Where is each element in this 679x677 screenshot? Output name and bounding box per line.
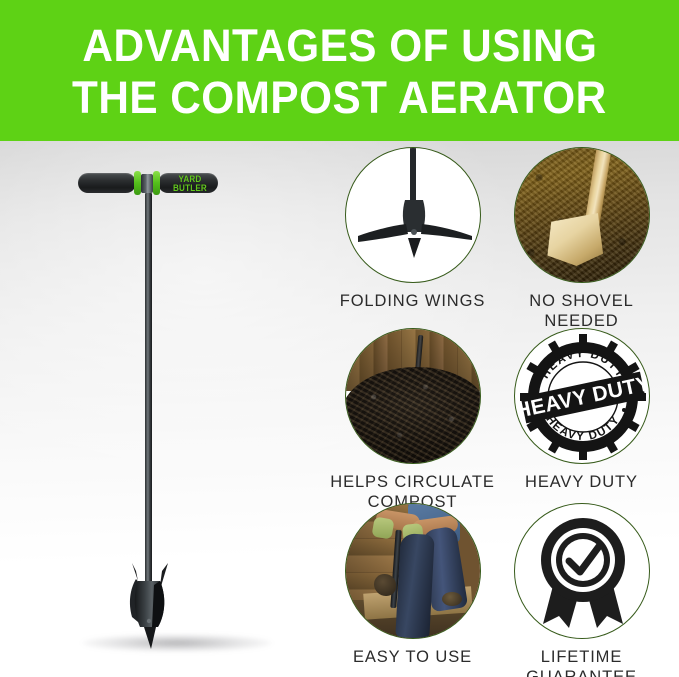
feature-image-easy-to-use [345, 503, 481, 639]
soil-clump-left [374, 574, 396, 596]
handle-grip-left [78, 173, 136, 193]
folding-wings-icon [346, 148, 481, 283]
feature-label-no-shovel-needed: NO SHOVEL NEEDED [494, 292, 669, 331]
product-photo: YARDBUTLER [0, 141, 320, 677]
wing-left [358, 224, 408, 242]
brand-logo-text: YARDBUTLER [168, 175, 211, 192]
headline-line-1: ADVANTAGES OF USING [82, 20, 597, 72]
auger-tip [144, 627, 156, 649]
wings-pivot [411, 229, 417, 235]
handle-accent-ring-left [134, 171, 141, 195]
handle-accent-ring-right [153, 171, 160, 195]
stamp-dot-right [622, 408, 626, 412]
feature-no-shovel-needed[interactable]: NO SHOVEL NEEDED [494, 147, 669, 331]
checkmark-ribbon-award-icon [525, 512, 641, 632]
handle-center-bracket [141, 174, 153, 193]
heavy-duty-stamp-icon: HEAVY DUTY HEAVY DUTY HEAVY DUTY [518, 332, 648, 462]
feature-label-heavy-duty: HEAVY DUTY [494, 473, 669, 493]
feature-image-folding-wings [345, 147, 481, 283]
compost-pile [345, 367, 481, 464]
feature-label-easy-to-use: EASY TO USE [325, 648, 500, 668]
feature-folding-wings[interactable]: FOLDING WINGS [325, 147, 500, 312]
feature-easy-to-use[interactable]: EASY TO USE [325, 503, 500, 668]
product-infographic: ADVANTAGES OF USING THE COMPOST AERATOR … [0, 0, 679, 677]
wings-tip [408, 238, 421, 258]
headline-line-2: THE COMPOST AERATOR [72, 72, 607, 124]
brand-line-2: BUTLER [173, 183, 207, 193]
feature-image-lifetime-guarantee [514, 503, 650, 639]
auger-head [108, 561, 190, 656]
tool-shaft [145, 193, 152, 593]
wings-shaft [410, 148, 416, 206]
compost-scene [346, 329, 480, 463]
person-using-aerator-scene [346, 504, 480, 638]
feature-heavy-duty[interactable]: HEAVY DUTY HEAVY DUTY HEAVY DUTY HEAVY D… [494, 328, 669, 493]
feature-helps-circulate-compost[interactable]: HELPS CIRCULATE COMPOST [325, 328, 500, 512]
auger-rivet [147, 619, 151, 623]
feature-image-helps-circulate-compost [345, 328, 481, 464]
feature-label-lifetime-guarantee: LIFETIME GUARANTEE [494, 648, 669, 677]
person-leg-front [395, 533, 434, 639]
header-banner: ADVANTAGES OF USING THE COMPOST AERATOR [0, 0, 679, 141]
gardening-glove-left [371, 516, 394, 539]
feature-image-no-shovel-needed [514, 147, 650, 283]
wing-right [421, 224, 472, 240]
feature-grid: FOLDING WINGS NO SHOVEL NEEDED HELPS CI [322, 147, 679, 677]
feature-label-folding-wings: FOLDING WINGS [325, 292, 500, 312]
feature-image-heavy-duty: HEAVY DUTY HEAVY DUTY HEAVY DUTY [514, 328, 650, 464]
feature-lifetime-guarantee[interactable]: LIFETIME GUARANTEE [494, 503, 669, 677]
soil-clump-right [442, 592, 462, 606]
